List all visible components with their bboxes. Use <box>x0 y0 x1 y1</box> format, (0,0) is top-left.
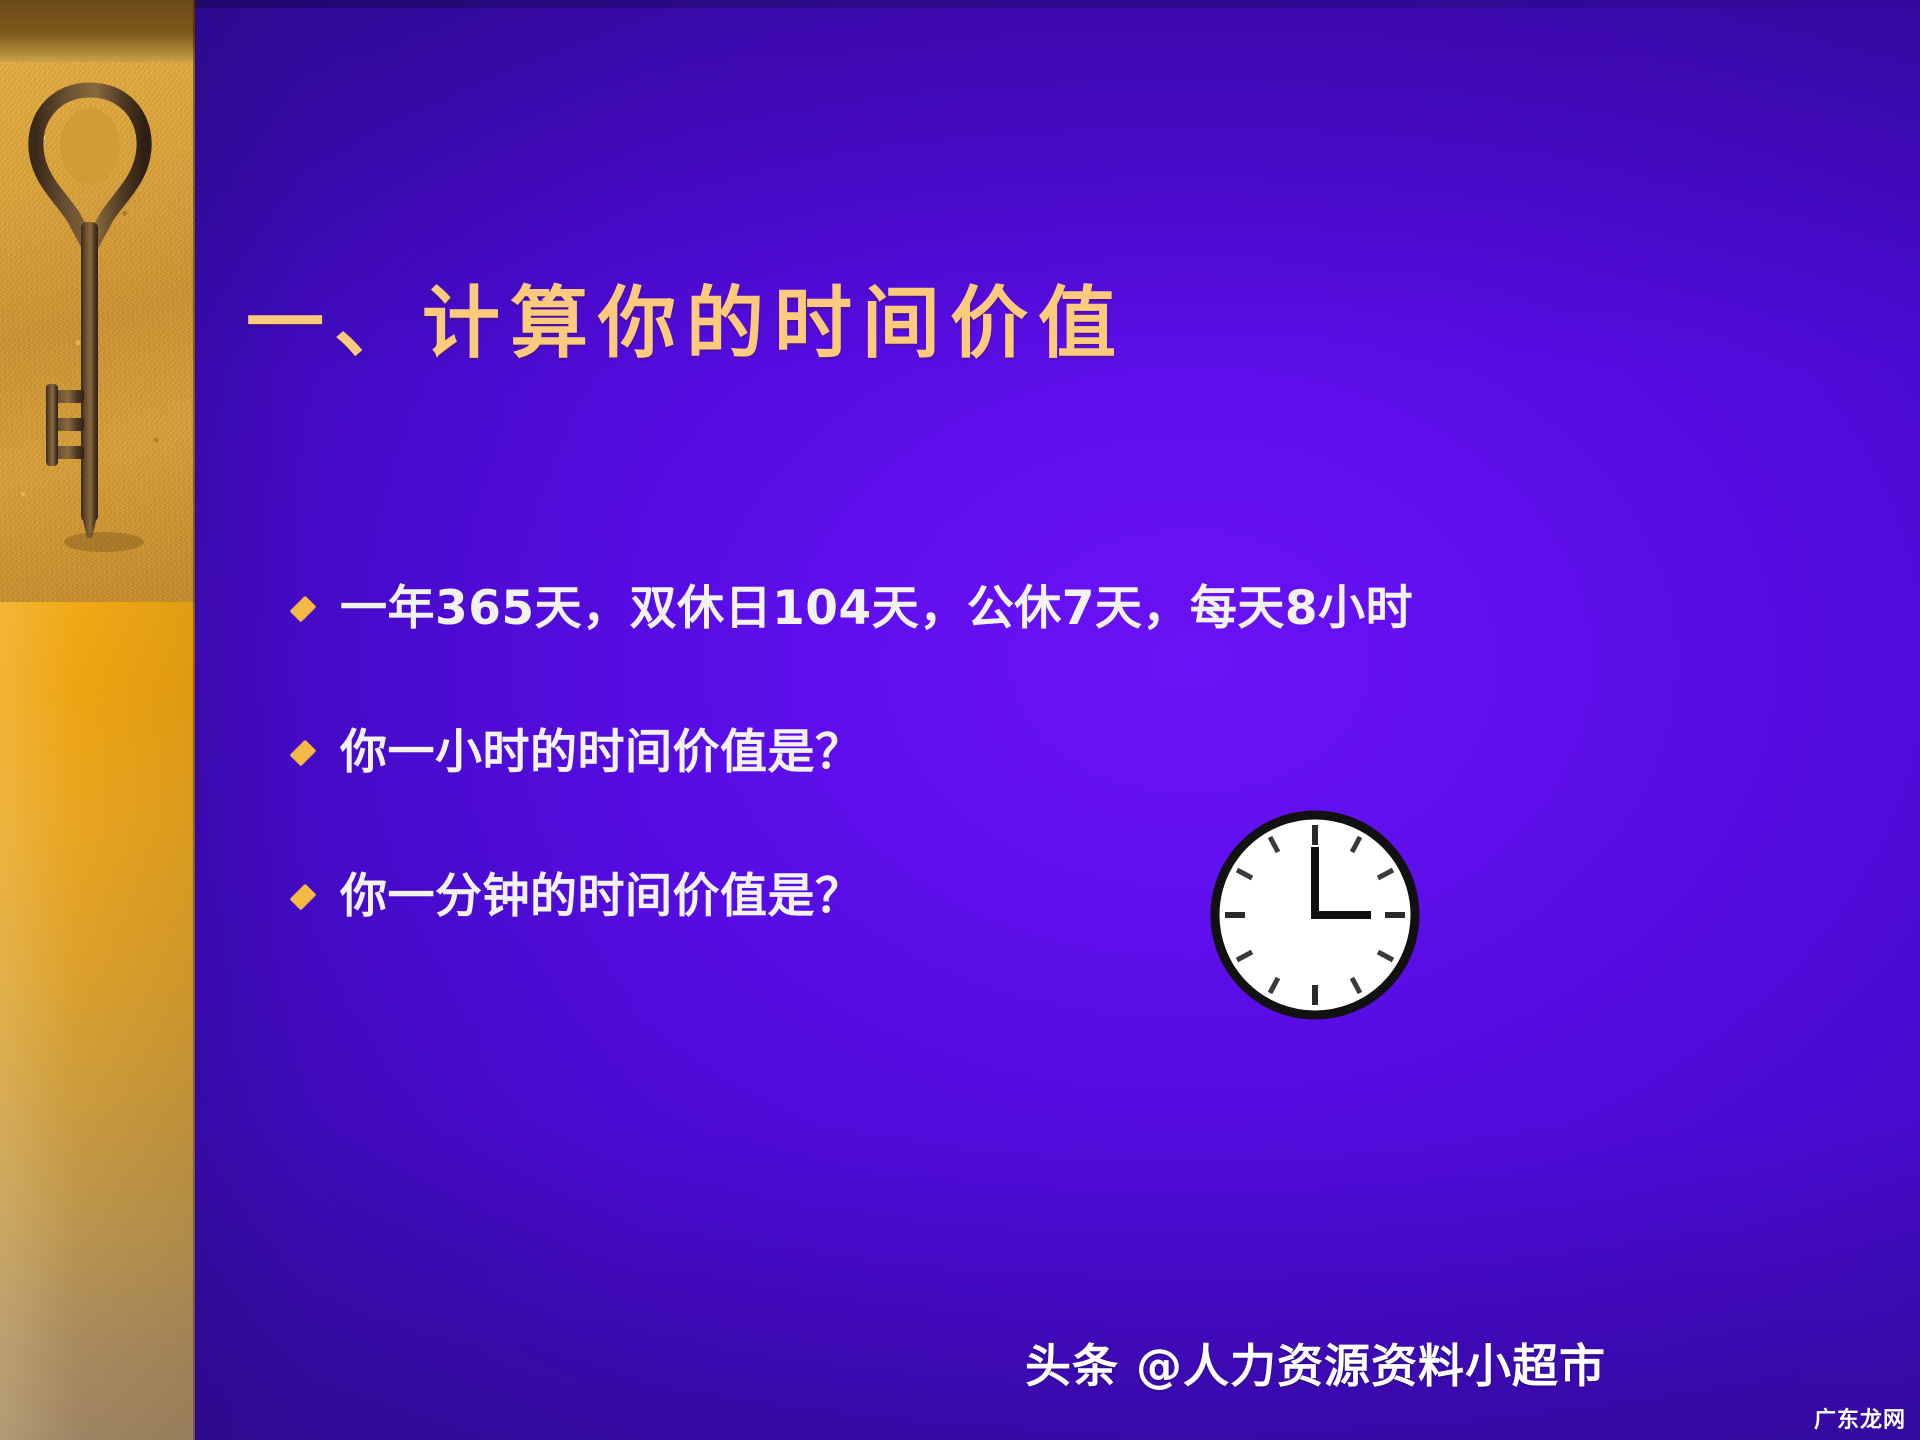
sidebar-edge-line <box>193 0 196 1440</box>
diamond-bullet-icon <box>290 740 317 767</box>
diamond-bullet-icon <box>290 596 317 623</box>
top-edge-strip <box>0 0 1920 8</box>
watermark-corner: 广东龙网 <box>1814 1402 1906 1434</box>
analog-clock-illustration <box>1205 805 1425 1025</box>
slide-canvas: 一、计算你的时间价值 一年365天，双休日104天，公休7天，每天8小时 你一小… <box>0 0 1920 1440</box>
clock-icon <box>1205 805 1425 1025</box>
key-icon <box>12 72 184 592</box>
bullet-item-label: 你一小时的时间价值是？ <box>340 724 863 782</box>
bullet-item-label: 你一分钟的时间价值是？ <box>340 868 863 926</box>
bullet-item-label: 一年365天，双休日104天，公休7天，每天8小时 <box>340 580 1413 638</box>
list-item: 你一分钟的时间价值是？ <box>292 868 1852 926</box>
diamond-bullet-icon <box>290 884 317 911</box>
list-item: 一年365天，双休日104天，公休7天，每天8小时 <box>292 580 1852 638</box>
gold-gradient-panel <box>0 602 195 1440</box>
left-sidebar <box>0 0 195 1440</box>
bullet-list: 一年365天，双休日104天，公休7天，每天8小时 你一小时的时间价值是？ 你一… <box>292 580 1852 1012</box>
sidebar-top-band <box>0 0 195 62</box>
antique-key-photo <box>0 62 195 602</box>
page-title: 一、计算你的时间价值 <box>246 278 1306 370</box>
watermark-primary: 头条 @人力资源资料小超市 <box>1025 1330 1606 1396</box>
list-item: 你一小时的时间价值是？ <box>292 724 1852 782</box>
